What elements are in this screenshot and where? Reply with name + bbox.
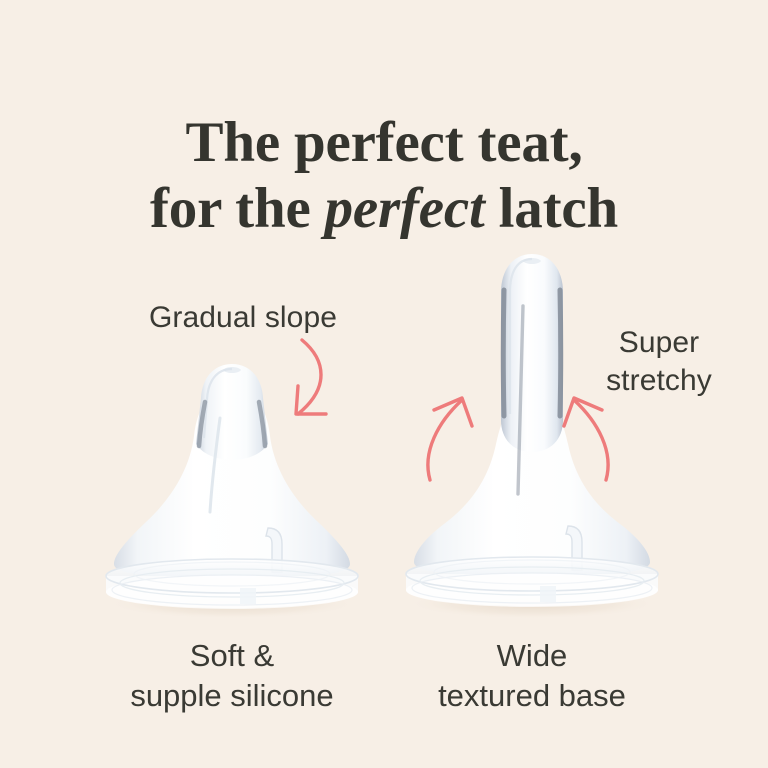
teat-shade-left (503, 290, 504, 416)
teat-nipple (501, 254, 563, 452)
teat-nipple-inner-edge (204, 369, 232, 438)
infographic-canvas: The perfect teat, for the perfect latch (0, 0, 768, 768)
teat-nipple-inner-edge (510, 259, 532, 414)
teat-skirt (114, 390, 350, 578)
headline-line-1: The perfect teat, (0, 110, 768, 176)
caption-soft-supple-silicone: Soft & supple silicone (82, 636, 382, 716)
callout-label-gradual-slope: Gradual slope (88, 300, 398, 336)
teat-standard-illustration (92, 352, 372, 620)
teat-skirt (414, 394, 650, 576)
curved-arrow-up-right-icon (548, 388, 618, 484)
headline-line-2-after: latch (485, 177, 618, 240)
curved-arrow-down-left-icon (268, 330, 364, 426)
teat-seam (518, 306, 523, 494)
teat-shade-right (560, 290, 561, 416)
headline-line-2: for the perfect latch (0, 176, 768, 242)
teat-seam (210, 418, 220, 512)
teat-shadow (106, 589, 358, 619)
teat-shade-right (259, 402, 265, 446)
teat-shadow (406, 589, 658, 619)
teat-shade-left (199, 402, 205, 446)
teat-valve-tab (566, 526, 582, 570)
teat-collar-base (106, 559, 358, 609)
curved-arrow-up-left-icon (418, 388, 488, 484)
teat-collar-base (406, 557, 658, 607)
headline-emphasis: perfect (325, 177, 485, 240)
teat-tip-vent (523, 258, 541, 264)
teat-nipple (196, 364, 268, 460)
headline-line-2-before: for the (150, 177, 325, 240)
teat-valve-tab (266, 528, 282, 572)
teat-stretched-illustration (392, 244, 672, 620)
callout-label-super-stretchy: Super stretchy (566, 324, 752, 400)
teat-tip-vent (223, 367, 241, 373)
caption-wide-textured-base: Wide textured base (382, 636, 682, 716)
page-title: The perfect teat, for the perfect latch (0, 110, 768, 242)
